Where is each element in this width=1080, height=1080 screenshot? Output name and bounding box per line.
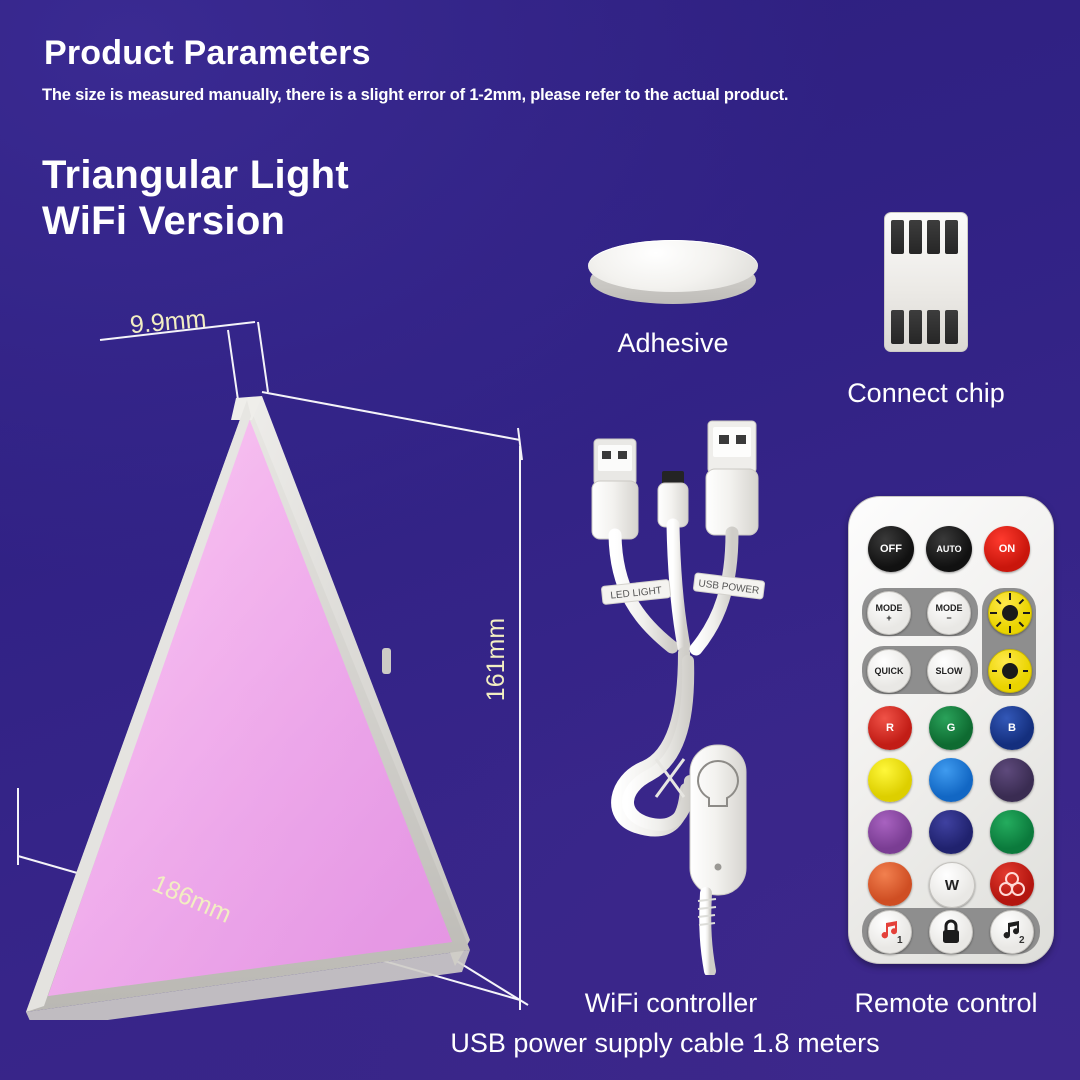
adhesive-top [588,240,758,292]
remote-button-color-darkpurple[interactable] [990,758,1034,802]
adhesive-pad [588,240,758,308]
three-circles-icon [998,871,1026,897]
remote-button-mode-minus[interactable]: MODE − [927,591,971,635]
remote-button-color-skyblue[interactable] [929,758,973,802]
remote-button-rgb-mix[interactable] [990,862,1034,906]
lamp-svg [0,300,560,1020]
svg-text:1: 1 [897,935,903,944]
wifi-controller-label: WiFi controller [566,988,776,1019]
remote-button-quick[interactable]: QUICK [867,649,911,693]
led-indicator [715,864,722,871]
remote-button-blue[interactable]: B [990,706,1034,750]
lamp-body [26,396,470,1020]
remote-button-music-1[interactable]: 1 [868,910,912,954]
chip-pad [945,220,958,254]
remote-button-red[interactable]: R [868,706,912,750]
remote-button-brightness-up[interactable] [988,591,1032,635]
usb-power-cable: LED LIGHT USB POWER [580,415,810,975]
remote-button-color-purple[interactable] [868,810,912,854]
brightness-up-icon [989,592,1031,634]
product-name-line2: WiFi Version [42,198,349,244]
remote-button-white[interactable]: W [929,862,975,908]
usb-cable-label: USB power supply cable 1.8 meters [430,1028,900,1059]
remote-button-color-green2[interactable] [990,810,1034,854]
remote-button-color-orange[interactable] [868,862,912,906]
remote-button-lock[interactable] [929,910,973,954]
mode-minus-sign: − [946,614,951,623]
remote-button-off[interactable]: OFF [868,526,914,572]
remote-button-color-indigo[interactable] [929,810,973,854]
adhesive-label: Adhesive [588,328,758,359]
connect-chip [884,212,968,352]
wifi-controller-module [690,745,746,971]
usb-a-connector-led [592,439,638,539]
remote-button-on[interactable]: ON [984,526,1030,572]
mode-minus-label: MODE [936,604,963,613]
usb-a-connector-power [706,421,758,535]
page-title: Product Parameters [44,34,371,73]
product-infographic: Product Parameters The size is measured … [0,0,1080,1080]
product-name: Triangular Light WiFi Version [42,152,349,245]
chip-pad [909,220,922,254]
triangular-light-illustration: 9.9mm 161mm 186mm [0,300,560,1020]
chip-pad [927,220,940,254]
remote-button-brightness-down[interactable] [988,649,1032,693]
product-name-line1: Triangular Light [42,152,349,198]
remote-control-label: Remote control [840,988,1052,1019]
remote-button-green[interactable]: G [929,706,973,750]
remote-button-mode-plus[interactable]: MODE + [867,591,911,635]
chip-pad [891,220,904,254]
chip-pad [927,310,940,344]
remote-control: OFF AUTO ON MODE + MODE − [848,496,1054,964]
lamp-side-button [382,648,391,674]
svg-text:2: 2 [1019,935,1025,944]
remote-button-color-yellow[interactable] [868,758,912,802]
measurement-disclaimer: The size is measured manually, there is … [42,86,788,105]
cable-svg: LED LIGHT USB POWER [580,415,810,975]
connect-chip-label: Connect chip [836,378,1016,409]
mode-plus-sign: + [886,614,891,623]
mode-plus-label: MODE [876,604,903,613]
chip-pad [891,310,904,344]
music-note-2-icon: 2 [998,920,1026,944]
chip-pad [909,310,922,344]
cable-coil [617,653,690,831]
remote-button-auto[interactable]: AUTO [926,526,972,572]
remote-button-slow[interactable]: SLOW [927,649,971,693]
lock-icon [939,919,963,945]
remote-button-music-2[interactable]: 2 [990,910,1034,954]
dimension-height: 161mm [482,618,511,701]
brightness-down-icon [989,650,1031,692]
chip-pad [945,310,958,344]
music-note-1-icon: 1 [876,920,904,944]
